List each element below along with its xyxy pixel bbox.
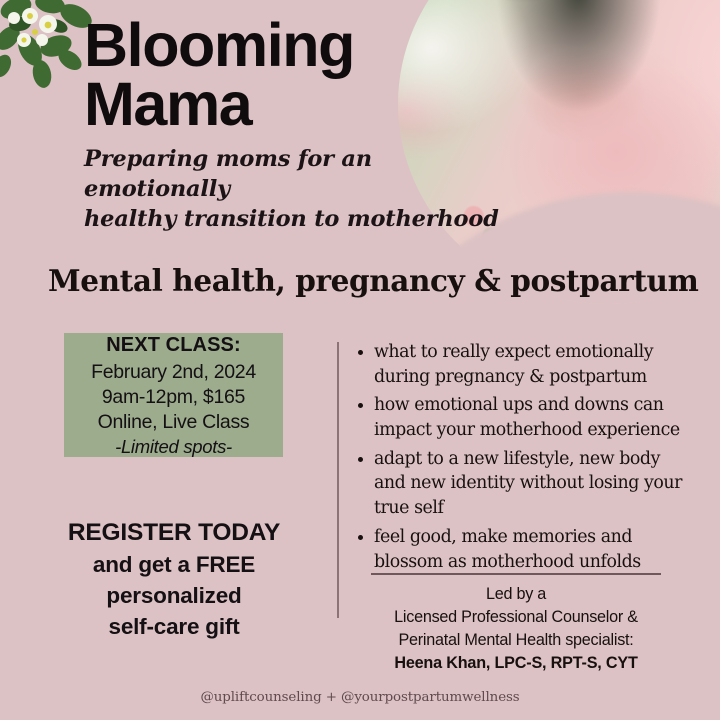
page-subtitle: Preparing moms for an emotionally health… [84,145,514,235]
flyer-canvas: Blooming Mama Preparing moms for an emot… [0,0,720,720]
led-by-block: Led by a Licensed Professional Counselor… [355,583,677,675]
next-class-time-price: 9am-12pm, $165 [102,385,245,410]
led-by-rule [371,573,661,575]
register-cta: REGISTER TODAY and get a FREE personaliz… [40,517,308,642]
list-item: how emotional ups and downs can impact y… [355,393,695,443]
led-by-line-2: Licensed Professional Counselor & [355,606,677,629]
register-cta-line-4: self-care gift [40,611,308,642]
list-item: feel good, make memories and blossom as … [355,525,695,575]
register-cta-line-3: personalized [40,580,308,611]
instructor-name: Heena Khan, LPC-S, RPT-S, CYT [355,652,677,675]
course-benefits-list: what to really expect emotionally during… [355,340,695,578]
next-class-format: Online, Live Class [98,410,250,435]
social-handles: @upliftcounseling + @yourpostpartumwelln… [0,690,720,705]
register-cta-line-2: and get a FREE [40,549,308,580]
led-by-line-3: Perinatal Mental Health specialist: [355,629,677,652]
next-class-box: NEXT CLASS: February 2nd, 2024 9am-12pm,… [64,333,283,457]
section-heading: Mental health, pregnancy & postpartum [48,263,698,298]
next-class-date: February 2nd, 2024 [91,360,256,385]
page-subtitle-line-1: Preparing moms for an emotionally [84,145,514,205]
page-subtitle-line-2: healthy transition to motherhood [84,205,514,235]
page-title: Blooming Mama [84,16,544,134]
list-item: adapt to a new lifestyle, new body and n… [355,447,695,522]
page-title-line-2: Mama [84,75,544,134]
next-class-note: -Limited spots- [115,435,232,459]
led-by-line-1: Led by a [355,583,677,606]
page-title-line-1: Blooming [84,16,544,75]
list-item: what to really expect emotionally during… [355,340,695,390]
register-cta-line-1: REGISTER TODAY [40,517,308,549]
column-divider [337,342,339,618]
next-class-heading: NEXT CLASS: [106,333,240,359]
